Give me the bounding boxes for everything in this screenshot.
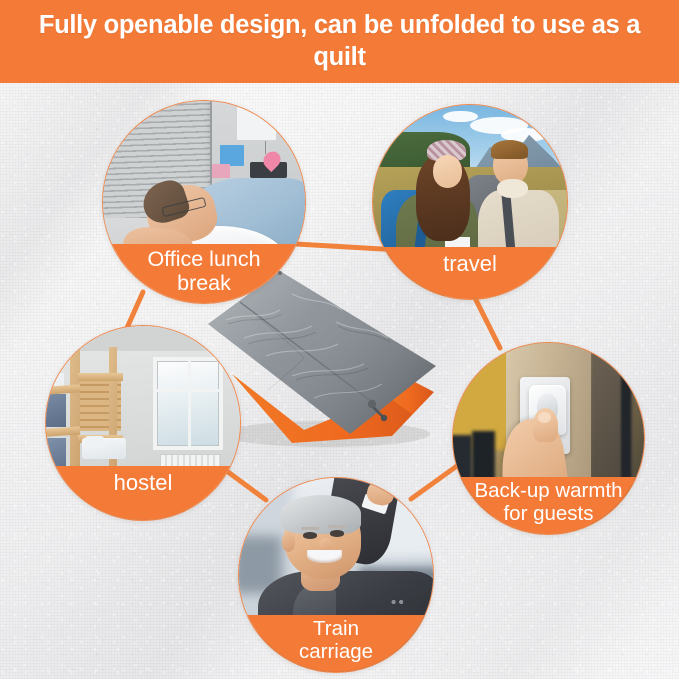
- fleece-collar: [497, 179, 528, 198]
- suit-sleeve-buttons: [390, 598, 407, 606]
- label-line-1: Back-up warmth: [452, 480, 645, 503]
- use-case-circle-back-up-warmth[interactable]: Back-up warmth for guests: [452, 342, 645, 535]
- use-case-circle-hostel[interactable]: hostel: [45, 325, 241, 521]
- label-line-1: hostel: [45, 471, 241, 496]
- label-line-2: carriage: [238, 641, 434, 664]
- label-line-1: Train: [238, 618, 434, 641]
- label-line-1: travel: [372, 252, 568, 277]
- eyebrow: [301, 527, 318, 531]
- lower-bunk-pillow: [85, 436, 104, 447]
- eye: [303, 532, 317, 538]
- eyebrow: [328, 525, 345, 529]
- sticky-note-pink: [212, 164, 230, 178]
- label-line-2: break: [102, 271, 306, 295]
- sticky-note-blue: [220, 145, 244, 165]
- header-banner: Fully openable design, can be unfolded t…: [0, 0, 679, 83]
- folded-bedding: [46, 438, 66, 469]
- eye: [330, 530, 344, 536]
- use-case-label-train-carriage: Train carriage: [238, 615, 434, 672]
- gray-hair: [280, 495, 361, 534]
- wall-notice-board: [236, 105, 276, 141]
- label-line-2: for guests: [452, 503, 645, 526]
- use-case-circle-travel[interactable]: travel: [372, 104, 568, 300]
- use-case-circle-train-carriage[interactable]: Train carriage: [238, 477, 434, 673]
- window-mullions: [153, 357, 223, 450]
- use-case-label-hostel: hostel: [45, 466, 241, 520]
- page-title: Fully openable design, can be unfolded t…: [0, 10, 679, 72]
- bunk-rail: [78, 373, 124, 381]
- use-case-label-office-lunch-break: Office lunch break: [102, 244, 306, 303]
- product-infographic: Fully openable design, can be unfolded t…: [0, 0, 679, 679]
- label-line-1: Office lunch: [102, 247, 306, 271]
- ear: [282, 532, 296, 551]
- man-hair: [491, 140, 528, 159]
- use-case-label-back-up-warmth: Back-up warmth for guests: [452, 477, 645, 534]
- use-case-label-travel: travel: [372, 247, 568, 299]
- use-case-circle-office-lunch-break[interactable]: Office lunch break: [102, 100, 306, 304]
- folded-bedding: [46, 394, 66, 427]
- folded-bedding: [46, 373, 64, 386]
